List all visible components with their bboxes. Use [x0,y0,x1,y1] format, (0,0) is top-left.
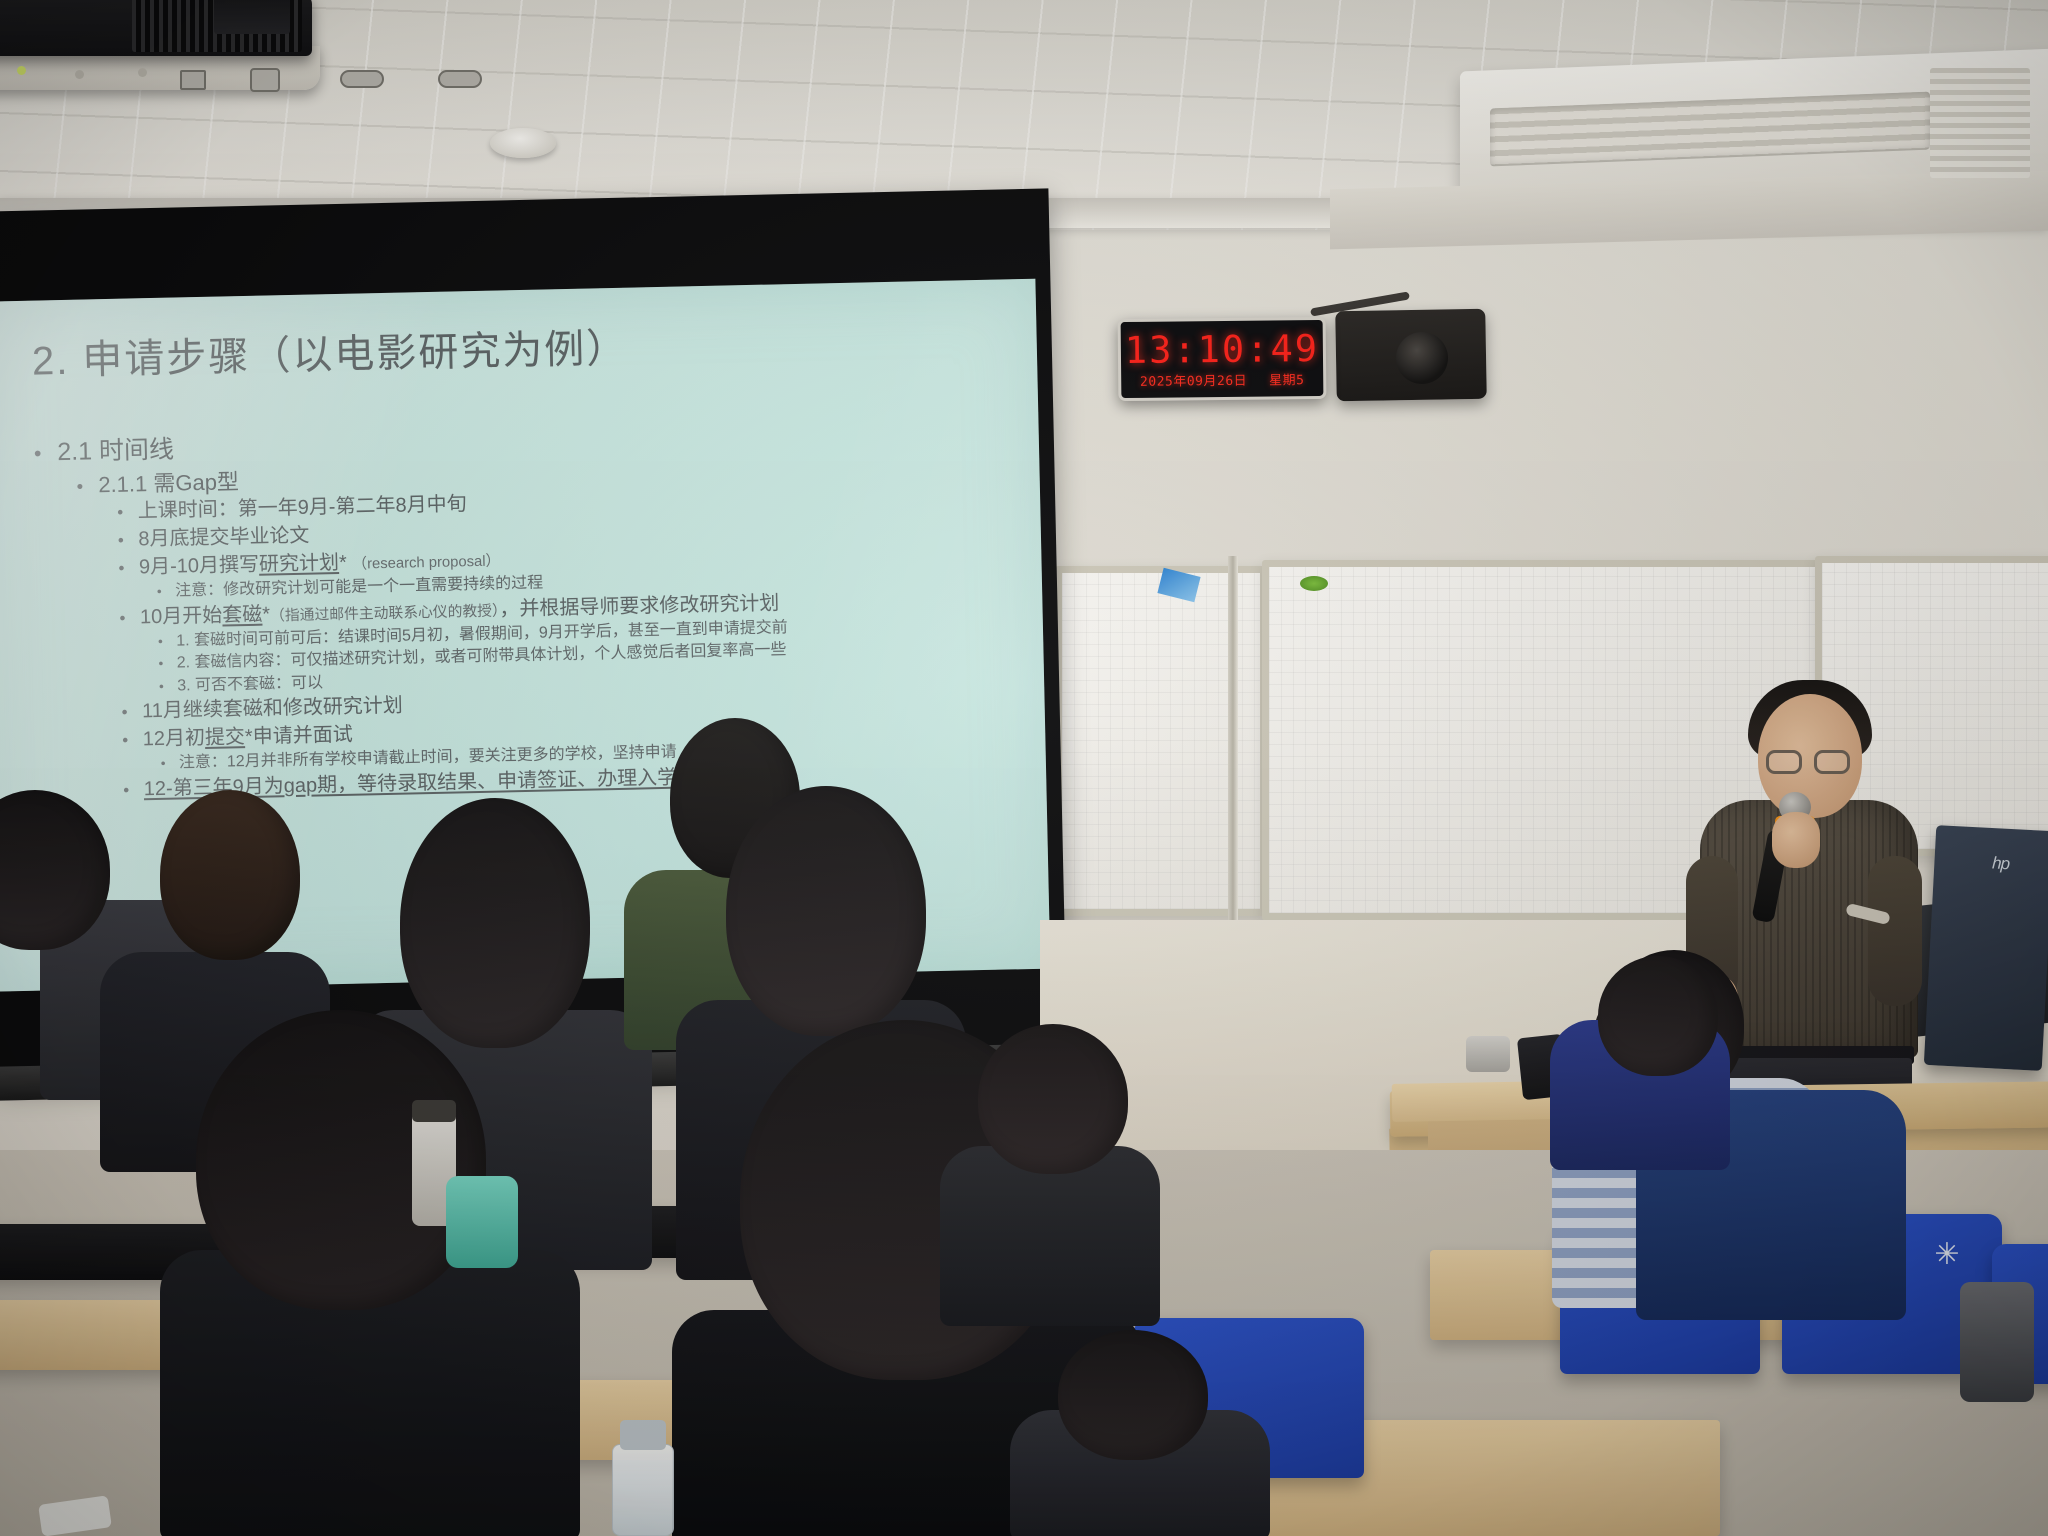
thermos-flask [1960,1282,2034,1402]
ethernet-port-icon [250,68,280,92]
bullet-text-suffix: 申请并面试 [252,724,352,748]
bullet-text-star: * [262,603,270,625]
wall-pipe [1228,556,1238,928]
bullet-text: 8月底提交毕业论文 [138,525,310,551]
serial-port-icon [438,70,482,88]
bullet-text-suffix: ，并根据导师要求修改研究计划 [499,592,779,620]
projector-ceiling-mount [214,0,290,34]
slide-title: 2. 申请步骤（以电影研究为例） [31,307,1012,386]
projector-power-led-icon [17,66,26,75]
bullet-level3: 10月开始套磁*（指通过邮件主动联系心仪的教授），并根据导师要求修改研究计划 1… [119,585,1019,698]
slide-bullet-list: 2.1 时间线 2.1.1 需Gap型 上课时间：第一年9月-第二年8月中旬 [33,411,1021,805]
bullet-text-underlined: 研究计划 [259,552,339,576]
bullet-text: 上课时间：第一年9月-第二年8月中旬 [137,493,466,522]
hp-logo-icon: hp [1991,853,2014,880]
bullet-text-underlined: 套磁 [222,603,262,626]
vga-port-icon [340,70,384,88]
digital-wall-clock: 13:10:49 2025年09月26日 星期5 [1118,317,1327,401]
clock-time: 13:10:49 [1125,329,1320,368]
projector-lamp-led-icon [75,70,84,79]
bullet-text-prefix: 12月初 [142,727,205,750]
clock-date-row: 2025年09月26日 星期5 [1140,374,1305,389]
bullet-text: 2.1 时间线 [57,436,174,467]
ceiling-vent-icon [1930,68,2030,178]
smoke-detector-icon [490,128,556,158]
glasses-left-lens-icon [1766,750,1802,774]
speaker-cone-icon [1396,332,1448,384]
bullet-text: 3. 可否不套磁：可以 [177,674,323,694]
water-bottle-cap [620,1420,666,1450]
hp-monitor [1924,825,2048,1071]
bullet-text-star: * [339,552,347,574]
glasses-right-lens-icon [1814,750,1850,774]
chair-logo-icon: ✳ [1932,1240,1962,1270]
clock-weekday: 星期5 [1269,374,1304,387]
bullet-text-paren: （research proposal） [352,553,500,572]
bullet-text-paren: （指通过邮件主动联系心仪的教授） [270,603,500,624]
slide-content: 2. 申请步骤（以电影研究为例） 2.1 时间线 2.1.1 需Gap型 上课 [31,307,1021,808]
bullet-text-underlined: 提交 [205,726,245,749]
bullet-text: 2.1.1 需Gap型 [98,469,239,497]
bullet-level2: 2.1.1 需Gap型 上课时间：第一年9月-第二年8月中旬 8月底提交毕业论文 [76,447,1021,804]
bullet-text: 11月继续套磁和修改研究计划 [142,695,403,723]
usb-port-icon [180,70,206,90]
clock-date: 2025年09月26日 [1140,374,1247,388]
presenter-mic-hand [1772,812,1820,868]
bullet-text-prefix: 10月开始 [140,604,223,628]
bullet-level1: 2.1 时间线 2.1.1 需Gap型 上课时间：第一年9月-第二年8月中旬 [33,411,1021,805]
lecture-hall-photo: 13:10:49 2025年09月26日 星期5 2. 申请步骤（以电影研究为例… [0,0,2048,1536]
presenter-right-arm [1868,856,1922,1006]
green-tumbler [446,1176,518,1268]
projector-body [0,0,312,56]
bullet-text-prefix: 9月-10月撰写 [139,554,259,579]
water-bottle [612,1444,674,1536]
thermos-cap [412,1100,456,1122]
desk-object [1466,1036,1510,1072]
projector-temp-led-icon [138,68,147,77]
whiteboard-magnet-icon [1300,576,1328,591]
